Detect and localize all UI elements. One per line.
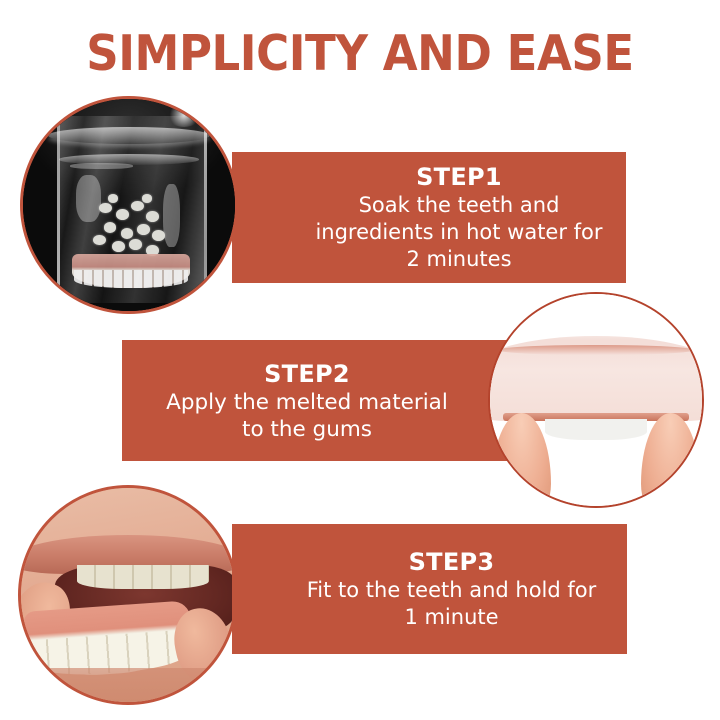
step-2-photo xyxy=(488,292,704,508)
step-bar-3: STEP3 Fit to the teeth and hold for 1 mi… xyxy=(232,524,627,654)
bead-5 xyxy=(104,222,117,233)
glass-streak-3 xyxy=(163,184,180,248)
step-1-description: Soak the teeth and ingredients in hot wa… xyxy=(315,192,602,273)
steam-splash xyxy=(167,103,201,126)
bead-4 xyxy=(146,211,159,222)
denture-in-glass xyxy=(72,254,191,288)
step-bar-1: STEP1 Soak the teeth and ingredients in … xyxy=(232,152,626,283)
denture-teeth xyxy=(545,419,647,440)
glass-rim xyxy=(48,127,209,144)
photo-2-top-blur xyxy=(490,294,702,341)
bead-6 xyxy=(121,228,134,239)
denture-tray-image xyxy=(490,294,702,506)
bead-7 xyxy=(137,224,150,235)
step-2-label: STEP2 xyxy=(264,359,350,389)
step-1-photo xyxy=(20,96,238,314)
glass-streak-1 xyxy=(70,163,134,169)
step-bar-2: STEP2 Apply the melted material to the g… xyxy=(122,340,522,461)
bead-9 xyxy=(93,235,106,246)
bead-13 xyxy=(108,194,119,202)
glass-streak-2 xyxy=(76,175,101,222)
page-title: SIMPLICITY AND EASE xyxy=(29,26,691,82)
bead-2 xyxy=(116,209,129,220)
mouth-fitting-image xyxy=(21,488,235,702)
glass-of-water-image xyxy=(23,99,235,311)
step-1-label: STEP1 xyxy=(416,162,502,192)
step-2-description: Apply the melted material to the gums xyxy=(166,389,448,443)
chin xyxy=(21,668,235,702)
step-3-description: Fit to the teeth and hold for 1 minute xyxy=(307,577,597,631)
step-3-label: STEP3 xyxy=(409,547,495,577)
bead-14 xyxy=(142,194,153,202)
bead-11 xyxy=(129,239,142,250)
bead-8 xyxy=(152,230,165,241)
bead-3 xyxy=(131,201,144,212)
step-3-photo xyxy=(18,485,238,705)
infographic-page: SIMPLICITY AND EASE STEP1 Soak the teeth… xyxy=(0,0,720,720)
upper-teeth xyxy=(77,565,210,589)
bead-10 xyxy=(112,241,125,252)
